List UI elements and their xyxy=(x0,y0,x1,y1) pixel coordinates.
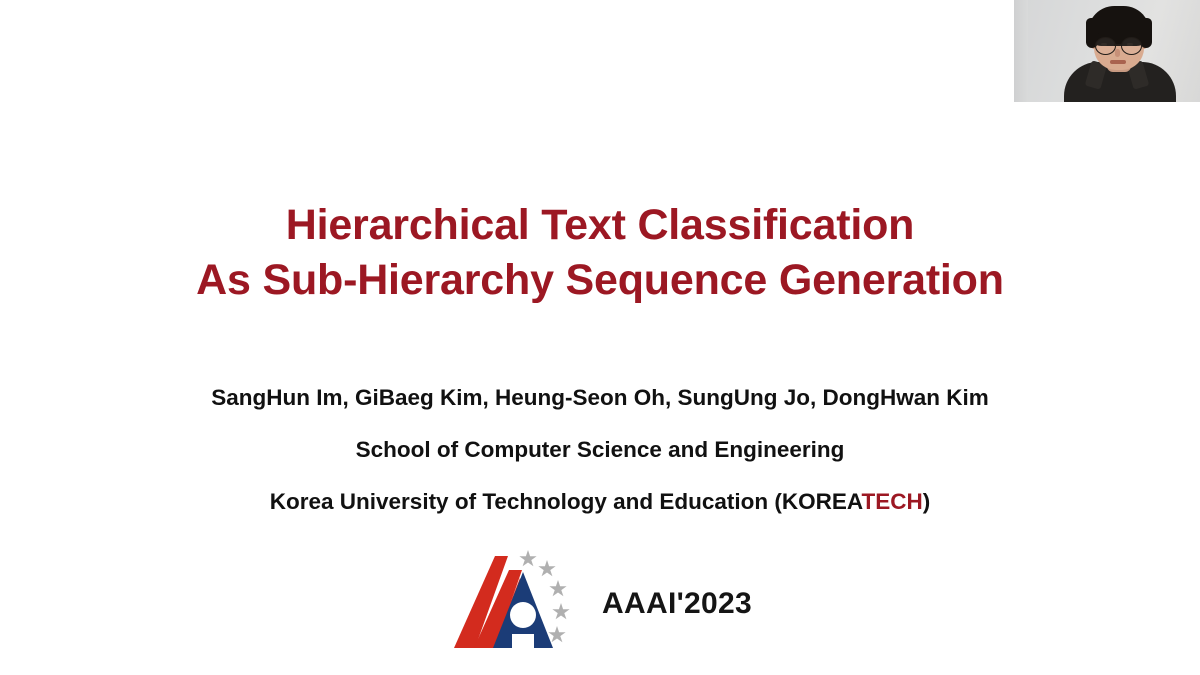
presenter-mouth xyxy=(1110,60,1126,64)
authors-and-affiliation: SangHun Im, GiBaeg Kim, Heung-Seon Oh, S… xyxy=(0,384,1200,516)
aaai-logo-icon xyxy=(448,548,580,653)
affiliation-university: Korea University of Technology and Educa… xyxy=(0,488,1200,516)
affiliation-university-prefix: Korea University of Technology and Educa… xyxy=(270,489,862,514)
affiliation-university-suffix: ) xyxy=(923,489,931,514)
presenter-nose xyxy=(1115,49,1120,57)
webcam-presenter xyxy=(1014,0,1200,102)
presentation-slide: Hierarchical Text Classification As Sub-… xyxy=(0,0,1200,675)
slide-title: Hierarchical Text Classification As Sub-… xyxy=(0,198,1200,308)
round-glasses-icon xyxy=(1095,37,1116,55)
author-list: SangHun Im, GiBaeg Kim, Heung-Seon Oh, S… xyxy=(0,384,1200,412)
presenter-webcam-overlay[interactable] xyxy=(1014,0,1200,102)
presenter-hair-fringe xyxy=(1092,22,1146,36)
affiliation-university-accent: TECH xyxy=(862,489,923,514)
conference-name: AAAI'2023 xyxy=(602,587,752,621)
affiliation-department: School of Computer Science and Engineeri… xyxy=(0,436,1200,464)
conference-logo-row: AAAI'2023 xyxy=(0,545,1200,655)
glasses-bridge xyxy=(1114,44,1121,46)
title-line-1: Hierarchical Text Classification xyxy=(0,198,1200,253)
title-line-2: As Sub-Hierarchy Sequence Generation xyxy=(0,253,1200,308)
round-glasses-icon xyxy=(1121,37,1142,55)
